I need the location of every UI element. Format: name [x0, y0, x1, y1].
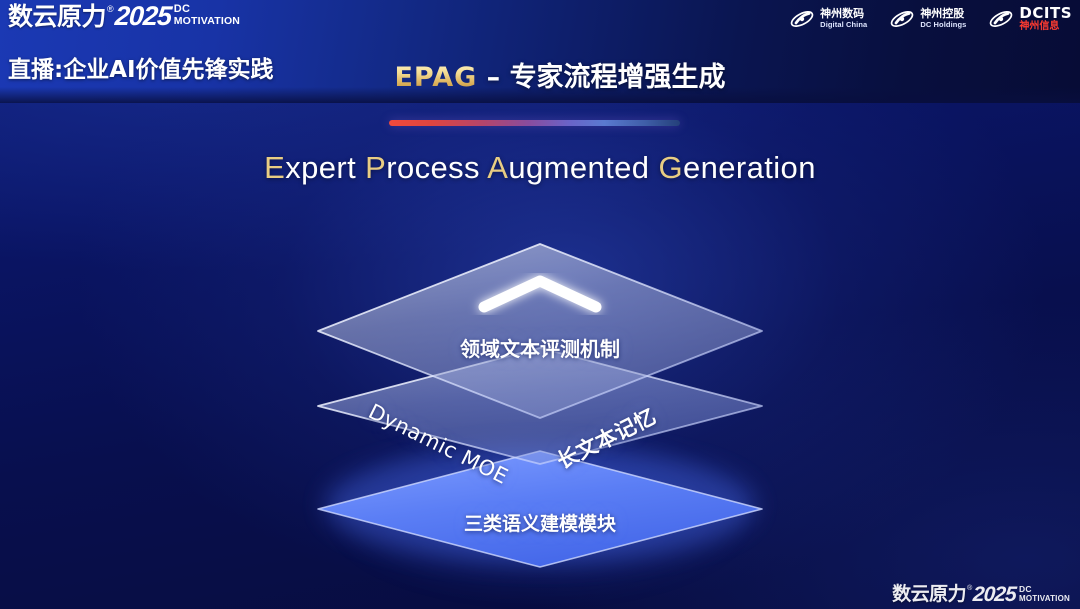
partner-dc-holdings: 神州控股 DC Holdings — [889, 7, 966, 31]
word-cap-e: E — [264, 150, 285, 185]
watermark-year: 2025 — [973, 584, 1017, 605]
word-rest-expert: xpert — [285, 150, 356, 185]
word-cap-a: A — [487, 150, 508, 185]
word-rest-generation: eneration — [683, 150, 816, 185]
partner-name-cn: 神州数码 — [820, 8, 867, 20]
brand-subtitle: DC MOTIVATION — [174, 3, 240, 27]
word-cap-p: P — [365, 150, 386, 185]
partner-text: DCITS 神州信息 — [1019, 5, 1072, 32]
title-acronym: EPAG — [394, 62, 477, 93]
watermark-registered-mark: ® — [967, 584, 972, 593]
watermark-name-cn: 数云原力 — [892, 584, 966, 605]
word-rest-augmented: ugmented — [508, 150, 649, 185]
partner-name-en: DC Holdings — [920, 20, 966, 30]
partner-dcits: DCITS 神州信息 — [988, 5, 1072, 32]
title-separator: – — [477, 62, 509, 93]
registered-mark: ® — [107, 3, 114, 15]
title-chinese: 专家流程增强生成 — [510, 62, 726, 93]
partner-text: 神州数码 Digital China — [820, 8, 867, 30]
word-cap-g: G — [658, 150, 683, 185]
stack-label-top: 领域文本评测机制 — [0, 333, 1080, 362]
brand-sub-motivation: MOTIVATION — [174, 15, 240, 27]
title-english: Expert Process Augmented Generation — [0, 150, 1080, 186]
watermark-logo: 数云原力 ® 2025 DC MOTIVATION — [892, 584, 1070, 605]
stack-label-bottom: 三类语义建模模块 — [0, 509, 1080, 536]
partner-name-en: Digital China — [820, 20, 867, 30]
watermark-sub-motivation: MOTIVATION — [1019, 594, 1070, 604]
brand-sub-dc: DC — [174, 4, 240, 15]
swirl-icon — [889, 7, 915, 31]
watermark-subtitle: DC MOTIVATION — [1019, 584, 1070, 603]
partner-logos: 神州数码 Digital China 神州控股 DC Holdings — [789, 5, 1072, 32]
slide-canvas: 数云原力 ® 2025 DC MOTIVATION 直播:企业AI价值先锋实践 … — [0, 0, 1080, 609]
word-rest-process: rocess — [386, 150, 480, 185]
partner-digital-china: 神州数码 Digital China — [789, 7, 867, 31]
partner-text: 神州控股 DC Holdings — [920, 8, 966, 30]
page-title: EPAG – 专家流程增强生成 — [0, 55, 1080, 94]
brand-year: 2025 — [114, 3, 172, 30]
partner-name-cn: 神州控股 — [920, 8, 966, 20]
watermark-sub-dc: DC — [1019, 585, 1070, 594]
partner-name-cn: DCITS — [1019, 5, 1072, 21]
gradient-divider — [389, 120, 680, 126]
partner-name-en: 神州信息 — [1019, 21, 1072, 32]
chevron-up-icon — [484, 281, 596, 307]
swirl-icon — [988, 7, 1014, 31]
brand-logo: 数云原力 ® 2025 DC MOTIVATION — [8, 3, 240, 33]
brand-name-cn: 数云原力 — [8, 3, 106, 30]
swirl-icon — [789, 7, 815, 31]
stack-layer-top — [318, 244, 762, 418]
